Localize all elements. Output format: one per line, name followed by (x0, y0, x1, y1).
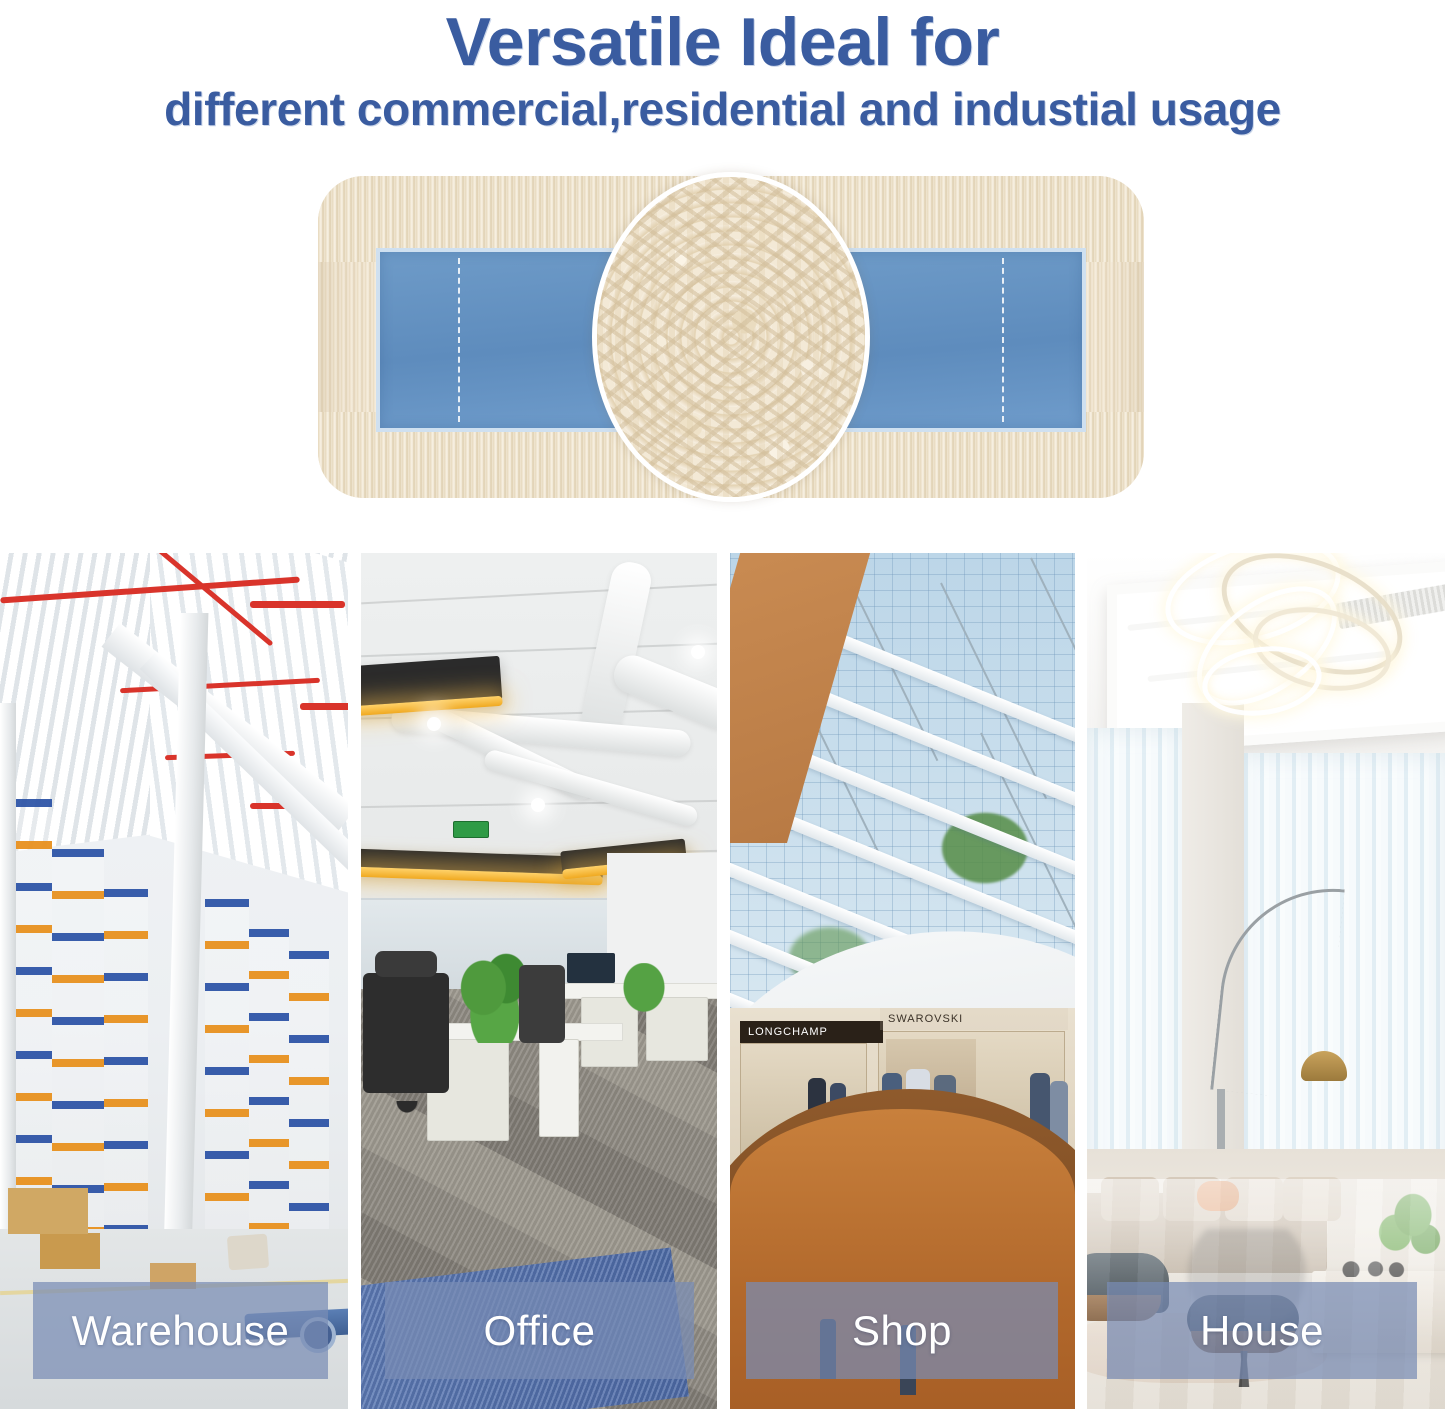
exit-sign-icon (453, 821, 489, 838)
yarn-loop-texture (597, 177, 865, 497)
wooden-pallet (40, 1233, 100, 1269)
sprinkler-pipe (250, 601, 345, 608)
scene-label-office: Office (484, 1307, 596, 1355)
chair-headrest (375, 951, 437, 977)
stitch-seam-right (1002, 258, 1004, 422)
scene-label-warehouse: Warehouse (72, 1307, 290, 1355)
office-photo: Office (361, 553, 717, 1409)
scene-label-box-office: Office (385, 1282, 694, 1379)
scene-label-box-house: House (1107, 1282, 1417, 1379)
computer-monitor (567, 953, 615, 983)
ceiling-spotlight (691, 645, 705, 659)
scene-label-house: House (1200, 1307, 1324, 1355)
warehouse-photo: Warehouse (0, 553, 348, 1409)
magnifier-circle-icon (592, 172, 870, 502)
store-sign-longchamp: LONGCHAMP (740, 1021, 883, 1043)
usage-scene-panels: Warehouse (0, 553, 1445, 1409)
scene-label-box-warehouse: Warehouse (33, 1282, 328, 1379)
desk-plant (619, 963, 669, 1017)
ring-chandelier (1157, 553, 1417, 733)
office-chair (363, 973, 449, 1093)
scene-panel-shop: LONGCHAMP SWAROVSKI Shop (730, 553, 1075, 1409)
store-sign-swarovski: SWAROVSKI (880, 1008, 1068, 1030)
house-photo: House (1087, 553, 1445, 1409)
ceiling-spotlight (427, 717, 441, 731)
stitch-seam-left (458, 258, 460, 422)
mop-head-product-image (318, 176, 1144, 498)
headline-line-2: different commercial,residential and ind… (0, 82, 1445, 136)
ceiling-spotlight (531, 798, 545, 812)
scene-panel-warehouse: Warehouse (0, 553, 348, 1409)
product-hero (0, 150, 1445, 546)
pendant-light (361, 656, 502, 710)
stacked-goods (227, 1234, 269, 1271)
wooden-pallet (8, 1188, 88, 1234)
scene-label-box-shop: Shop (746, 1282, 1058, 1379)
headline-block: Versatile Ideal for different commercial… (0, 0, 1445, 146)
scene-panel-house: House (1087, 553, 1445, 1409)
office-chair (519, 965, 565, 1043)
shop-photo: LONGCHAMP SWAROVSKI Shop (730, 553, 1075, 1409)
headline-line-1: Versatile Ideal for (0, 4, 1445, 80)
scene-panel-office: Office (361, 553, 717, 1409)
desk-pedestal (539, 1039, 579, 1137)
chair-base (367, 1101, 447, 1145)
sprinkler-pipe (300, 703, 348, 710)
office-plant (453, 951, 529, 1043)
scene-label-shop: Shop (852, 1307, 952, 1355)
